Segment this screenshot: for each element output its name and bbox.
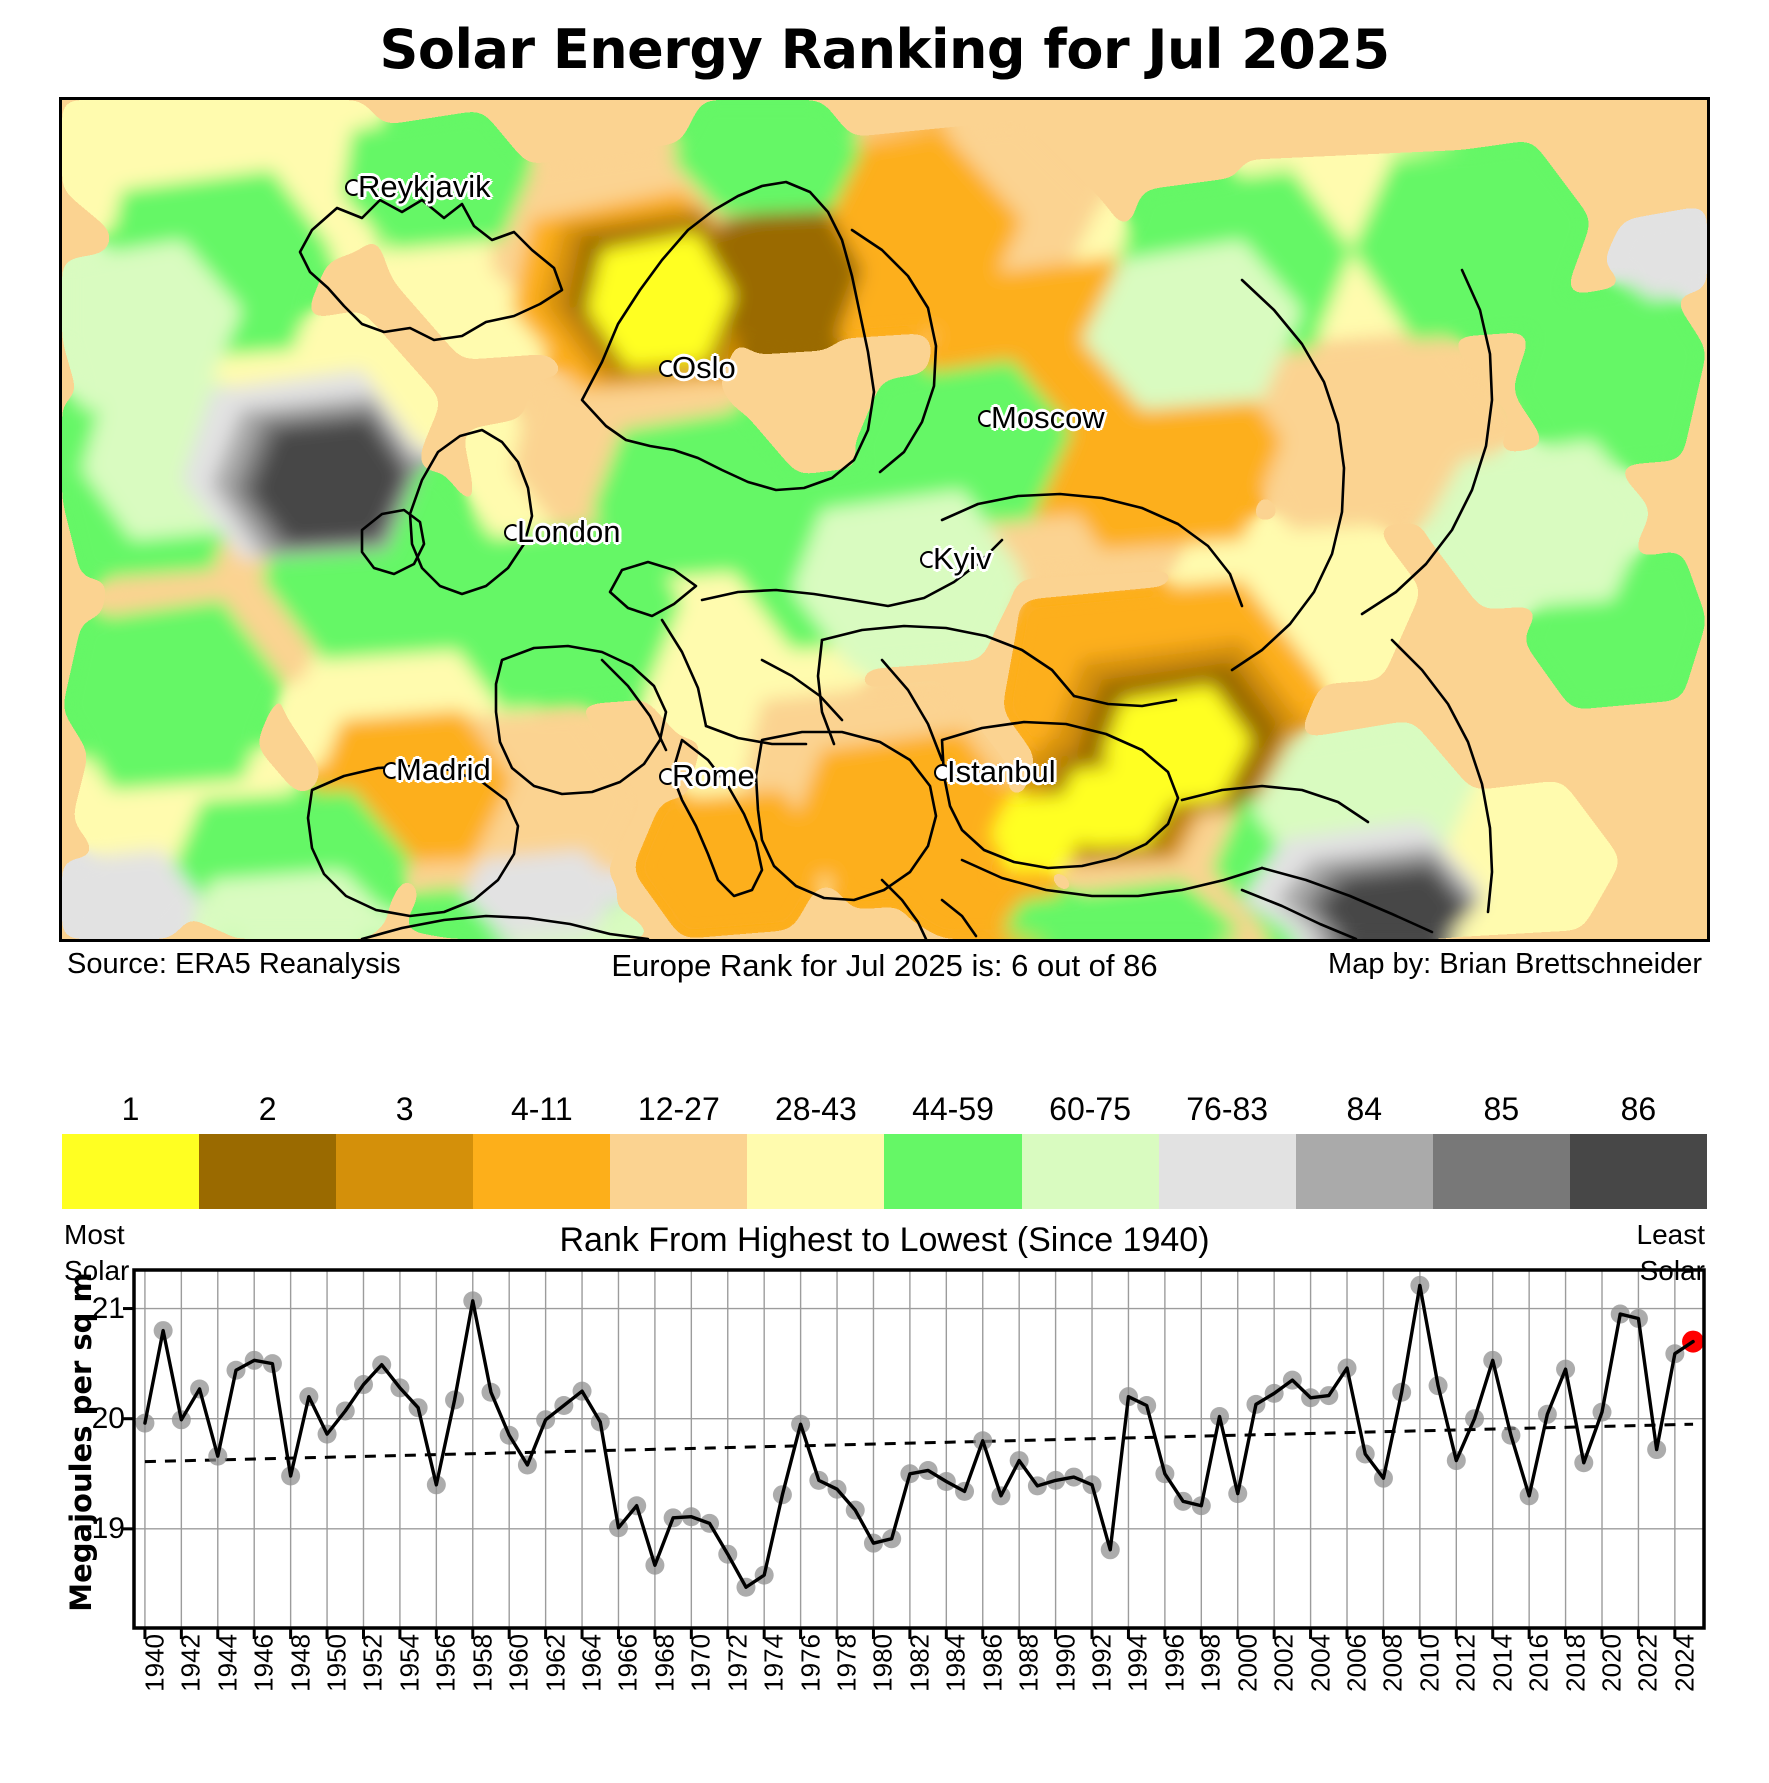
x-tick-label-9: 1958 <box>467 1634 498 1692</box>
x-tick-label-10: 1960 <box>504 1634 535 1692</box>
x-tick-label-30: 2000 <box>1232 1634 1263 1692</box>
legend-center-note: Rank From Highest to Lowest (Since 1940) <box>62 1221 1707 1260</box>
x-tick-label-2: 1944 <box>212 1634 243 1692</box>
x-tick-label-22: 1984 <box>941 1634 972 1692</box>
legend-label-1: 2 <box>199 1088 336 1134</box>
legend-label-3: 4-11 <box>473 1088 610 1134</box>
legend-swatch-8 <box>1159 1134 1296 1209</box>
x-tick-label-15: 1970 <box>686 1634 717 1692</box>
x-tick-label-25: 1990 <box>1050 1634 1081 1692</box>
x-tick-label-12: 1964 <box>577 1634 608 1692</box>
x-tick-label-18: 1976 <box>795 1634 826 1692</box>
x-tick-label-37: 2014 <box>1487 1634 1518 1692</box>
legend-label-10: 85 <box>1433 1088 1570 1134</box>
timeseries-chart: Megajoules per sq m 192021 1940194219441… <box>62 1262 1707 1772</box>
x-tick-label-14: 1968 <box>649 1634 680 1692</box>
x-tick-label-0: 1940 <box>139 1634 170 1692</box>
timeseries-svg <box>134 1270 1704 1628</box>
x-tick-label-38: 2016 <box>1524 1634 1555 1692</box>
legend-label-8: 76-83 <box>1159 1088 1296 1134</box>
legend-swatches <box>62 1134 1707 1209</box>
x-tick-label-8: 1956 <box>431 1634 462 1692</box>
legend-swatch-1 <box>199 1134 336 1209</box>
x-tick-label-16: 1972 <box>722 1634 753 1692</box>
y-tick-label-2: 21 <box>92 1292 125 1326</box>
solar-ranking-figure: Solar Energy Ranking for Jul 2025 <box>0 0 1769 1783</box>
legend-label-6: 44-59 <box>884 1088 1021 1134</box>
x-tick-label-33: 2006 <box>1342 1634 1373 1692</box>
x-tick-label-29: 1998 <box>1196 1634 1227 1692</box>
legend-label-2: 3 <box>336 1088 473 1134</box>
legend-labels: 1234-1112-2728-4344-5960-7576-83848586 <box>62 1088 1707 1134</box>
x-tick-label-42: 2024 <box>1669 1634 1700 1692</box>
x-tick-label-5: 1950 <box>322 1634 353 1692</box>
x-tick-label-41: 2022 <box>1633 1634 1664 1692</box>
x-tick-label-19: 1978 <box>832 1634 863 1692</box>
legend-label-7: 60-75 <box>1022 1088 1159 1134</box>
caption-author: Map by: Brian Brettschneider <box>1328 948 1702 981</box>
map-canvas <box>62 100 1707 939</box>
europe-solar-rank-map: ReykjavikOsloMoscowLondonKyivMadridRomeI… <box>59 97 1710 942</box>
x-tick-label-13: 1966 <box>613 1634 644 1692</box>
legend-swatch-9 <box>1296 1134 1433 1209</box>
x-tick-label-36: 2012 <box>1451 1634 1482 1692</box>
x-tick-label-6: 1952 <box>358 1634 389 1692</box>
x-tick-label-4: 1948 <box>285 1634 316 1692</box>
x-tick-label-31: 2002 <box>1269 1634 1300 1692</box>
legend-swatch-10 <box>1433 1134 1570 1209</box>
x-tick-label-20: 1980 <box>868 1634 899 1692</box>
x-tick-label-35: 2010 <box>1414 1634 1445 1692</box>
x-tick-label-32: 2004 <box>1305 1634 1336 1692</box>
x-tick-label-39: 2018 <box>1560 1634 1591 1692</box>
legend-least-line1: Least <box>1637 1217 1706 1253</box>
legend-swatch-11 <box>1570 1134 1707 1209</box>
legend-label-5: 28-43 <box>747 1088 884 1134</box>
legend-swatch-3 <box>473 1134 610 1209</box>
page-title: Solar Energy Ranking for Jul 2025 <box>0 18 1769 81</box>
x-tick-label-40: 2020 <box>1597 1634 1628 1692</box>
series-line <box>145 1285 1693 1587</box>
x-tick-label-24: 1988 <box>1014 1634 1045 1692</box>
plot-area: 192021 <box>134 1270 1704 1628</box>
legend-label-11: 86 <box>1570 1088 1707 1134</box>
legend-swatch-5 <box>747 1134 884 1209</box>
legend-swatch-0 <box>62 1134 199 1209</box>
legend-swatch-4 <box>610 1134 747 1209</box>
x-axis-tick-labels: 1940194219441946194819501952195419561958… <box>134 1634 1704 1764</box>
x-tick-label-17: 1974 <box>759 1634 790 1692</box>
legend-label-9: 84 <box>1296 1088 1433 1134</box>
map-caption-row: Source: ERA5 Reanalysis Europe Rank for … <box>59 948 1710 992</box>
x-tick-label-23: 1986 <box>977 1634 1008 1692</box>
x-tick-label-7: 1954 <box>394 1634 425 1692</box>
x-tick-label-11: 1962 <box>540 1634 571 1692</box>
x-tick-label-28: 1996 <box>1159 1634 1190 1692</box>
legend-swatch-6 <box>884 1134 1021 1209</box>
plot-frame <box>134 1270 1704 1628</box>
legend-label-0: 1 <box>62 1088 199 1134</box>
x-tick-label-26: 1992 <box>1087 1634 1118 1692</box>
x-tick-label-21: 1982 <box>904 1634 935 1692</box>
x-tick-label-1: 1942 <box>176 1634 207 1692</box>
legend-swatch-2 <box>336 1134 473 1209</box>
y-tick-label-0: 19 <box>92 1512 125 1546</box>
legend-swatch-7 <box>1022 1134 1159 1209</box>
x-tick-label-34: 2008 <box>1378 1634 1409 1692</box>
y-tick-label-1: 20 <box>92 1402 125 1436</box>
legend-label-4: 12-27 <box>610 1088 747 1134</box>
x-tick-label-27: 1994 <box>1123 1634 1154 1692</box>
x-tick-label-3: 1946 <box>249 1634 280 1692</box>
